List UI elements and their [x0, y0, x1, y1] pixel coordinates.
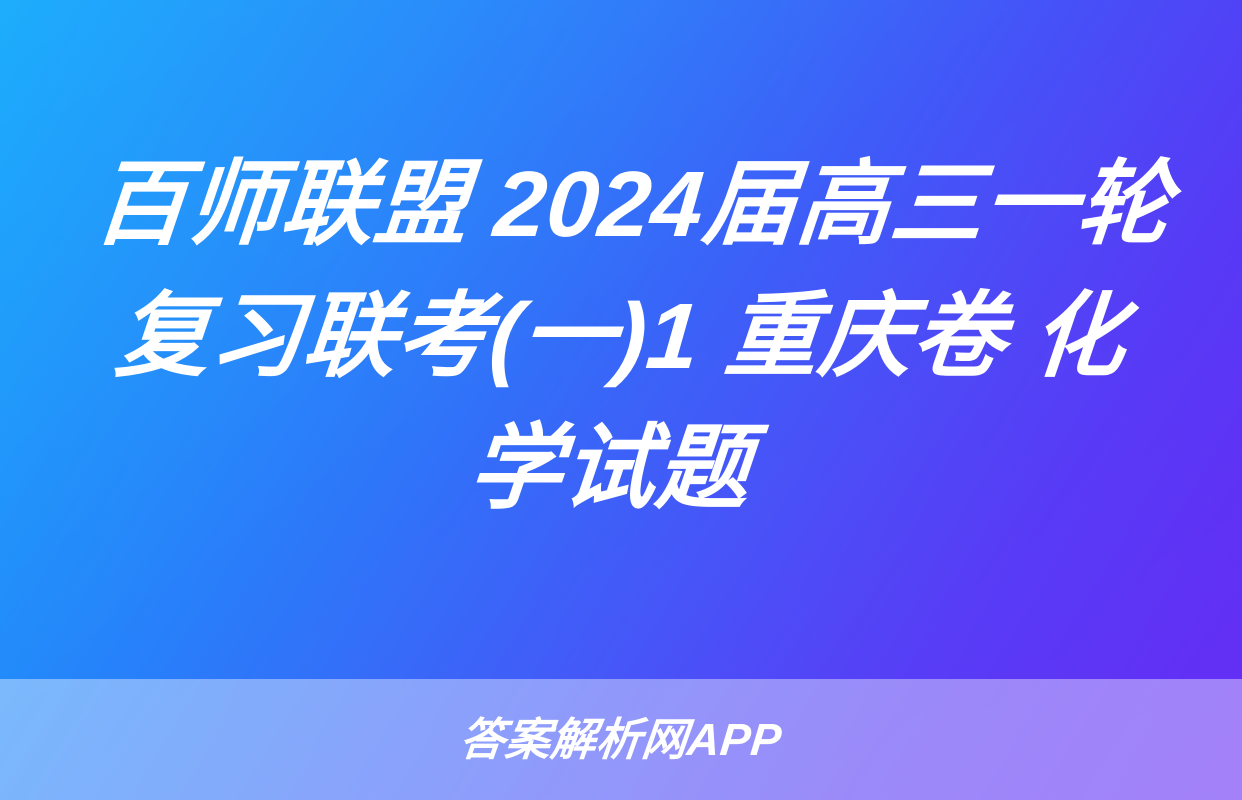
watermark-text: 答案解析网APP: [458, 717, 784, 762]
title-block: 百师联盟 2024届高三一轮复习联考(一)1 重庆卷 化学试题: [0, 0, 1242, 679]
page-title: 百师联盟 2024届高三一轮复习联考(一)1 重庆卷 化学试题: [53, 138, 1188, 540]
watermark-band: 答案解析网APP: [0, 679, 1242, 800]
cover-banner: 百师联盟 2024届高三一轮复习联考(一)1 重庆卷 化学试题 答案解析网APP: [0, 0, 1242, 800]
